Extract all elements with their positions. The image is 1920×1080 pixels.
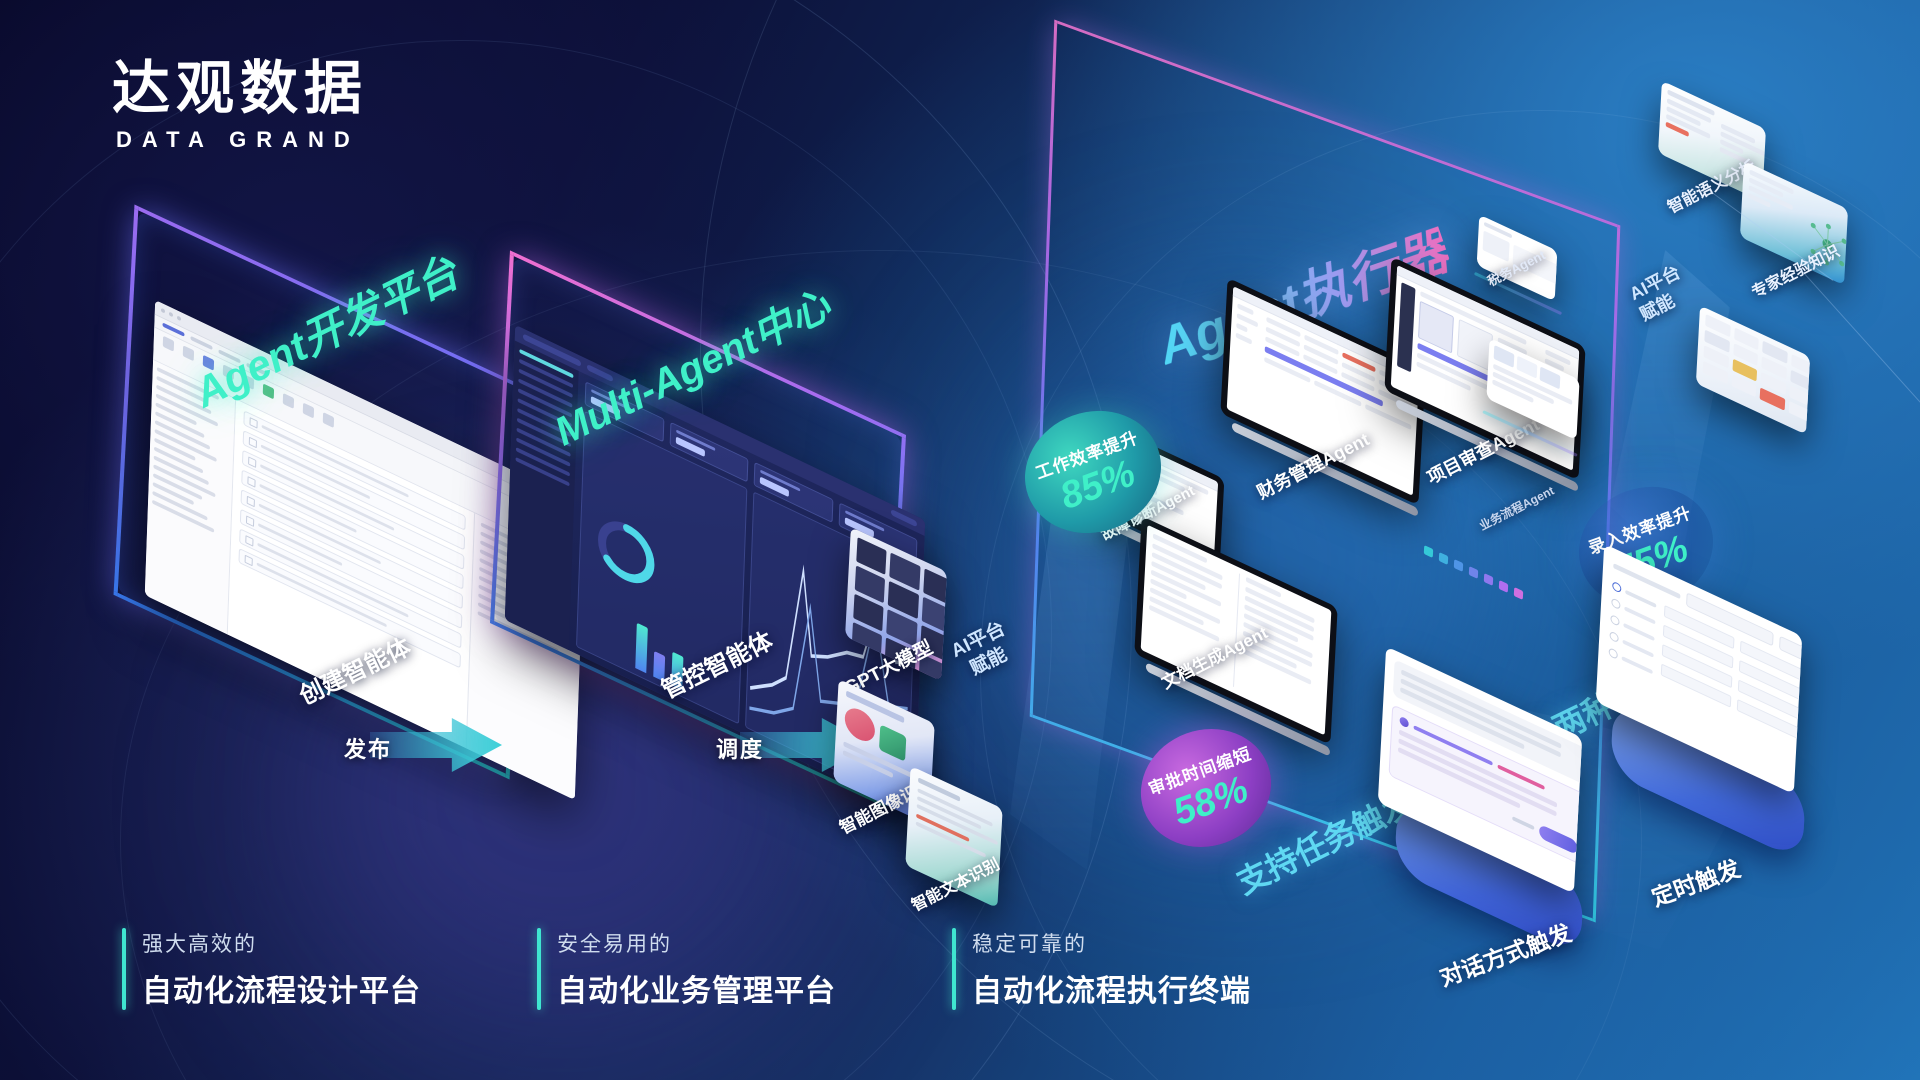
caption-item-manage: 安全易用的 自动化业务管理平台 (537, 928, 836, 1010)
window-dot (177, 315, 181, 321)
progress-dot (1514, 587, 1523, 600)
toolbar-icon (163, 336, 174, 352)
dashboard-sidebar (505, 340, 579, 650)
progress-dot (1439, 552, 1448, 565)
radio-icon[interactable] (1611, 597, 1620, 610)
radio-icon[interactable] (1612, 581, 1621, 594)
caption-accent-bar (537, 928, 541, 1010)
connector-line (1799, 268, 1920, 410)
caption-item-design: 强大高效的 自动化流程设计平台 (122, 928, 421, 1010)
card-checkbox-icon (248, 456, 256, 468)
caption-subtitle: 安全易用的 (557, 928, 836, 958)
caption-accent-bar (952, 928, 956, 1010)
window-dot (161, 308, 165, 314)
toolbar-icon (303, 402, 314, 418)
card-checkbox-icon (245, 554, 253, 566)
progress-dot (1469, 566, 1478, 579)
flow-arrow-label-publish: 发布 (344, 732, 392, 764)
progress-dot (1454, 559, 1463, 572)
card-checkbox-icon (249, 417, 257, 429)
radio-icon[interactable] (1610, 614, 1619, 627)
radio-icon[interactable] (1608, 647, 1617, 660)
window-dot (169, 312, 173, 318)
ai-platform-label-middle: AI平台 赋能 (948, 617, 1020, 685)
caption-subtitle: 强大高效的 (142, 928, 421, 958)
bottom-captions: 强大高效的 自动化流程设计平台 安全易用的 自动化业务管理平台 稳定可靠的 自动… (122, 928, 1251, 1010)
caption-accent-bar (122, 928, 126, 1010)
caption-subtitle: 稳定可靠的 (972, 928, 1251, 958)
toolbar-icon (283, 393, 294, 409)
card-checkbox-icon (249, 436, 257, 448)
card-checkbox-icon (247, 476, 255, 488)
toolbar-icon (323, 412, 334, 428)
radio-icon[interactable] (1609, 630, 1618, 643)
card-checkbox-icon (246, 515, 254, 527)
progress-dot (1424, 545, 1433, 558)
ai-card-extra (1696, 305, 1810, 434)
brand-name-en: DATA GRAND (112, 127, 368, 153)
caption-item-execute: 稳定可靠的 自动化流程执行终端 (952, 928, 1251, 1010)
brand-name-cn: 达观数据 (112, 58, 368, 119)
caption-title: 自动化流程设计平台 (142, 966, 421, 1010)
brand-logo: 达观数据 DATA GRAND (112, 58, 368, 153)
card-checkbox-icon (247, 495, 255, 507)
progress-dot (1499, 580, 1508, 593)
agent-avatar-icon (1399, 716, 1408, 729)
caption-title: 自动化业务管理平台 (557, 966, 836, 1010)
progress-dot (1484, 573, 1493, 586)
agent-label-business: 业务流程Agent (1476, 482, 1557, 534)
stat-bubble-approval: 审批时间缩短 58% (1124, 711, 1288, 865)
progress-dot-strip (1424, 545, 1523, 600)
chat-send-button[interactable] (1539, 824, 1578, 855)
poster-canvas: 达观数据 DATA GRAND (0, 0, 1920, 1080)
caption-title: 自动化流程执行终端 (972, 966, 1251, 1010)
card-checkbox-icon (245, 535, 253, 547)
flow-arrow-label-schedule: 调度 (716, 732, 764, 764)
trigger-label-chat: 对话方式触发 (1434, 914, 1575, 993)
